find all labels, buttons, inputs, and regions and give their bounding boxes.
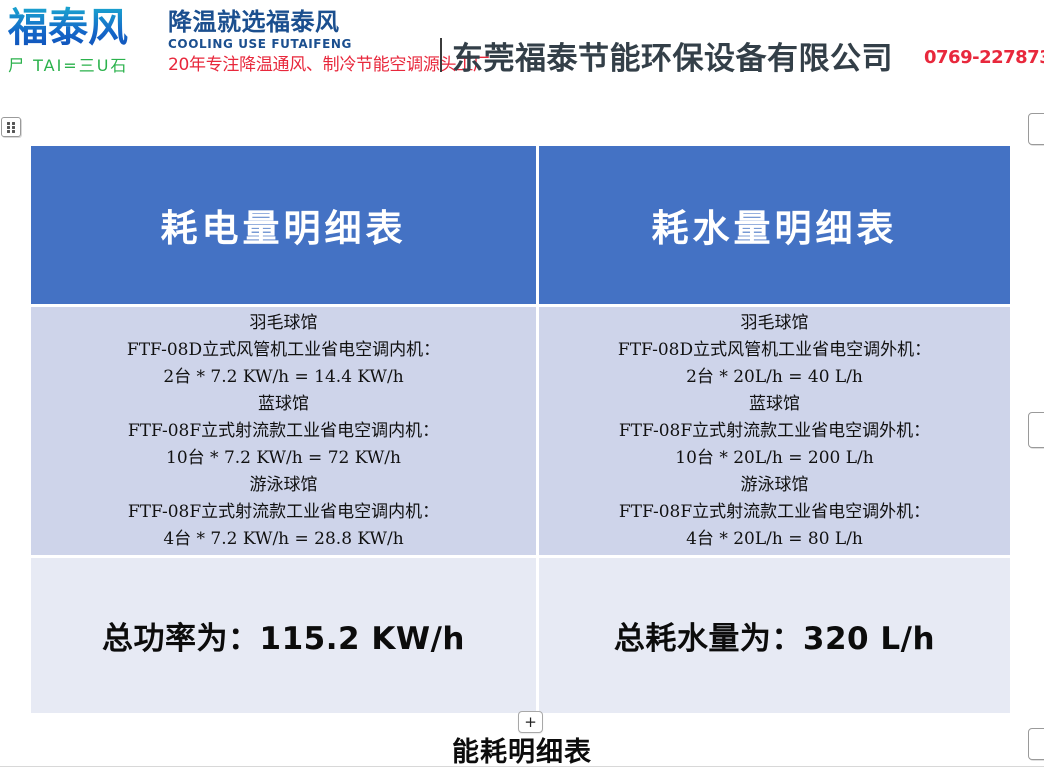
table-body-row: 羽毛球馆 FTF-08D立式风管机工业省电空调内机： 2台 * 7.2 KW/h… bbox=[31, 307, 1010, 558]
calc-label: 4台 * 20L/h = 80 L/h bbox=[539, 526, 1010, 553]
venue-label: 游泳球馆 bbox=[31, 472, 536, 499]
energy-detail-table: 耗电量明细表 耗水量明细表 羽毛球馆 FTF-08D立式风管机工业省电空调内机：… bbox=[31, 146, 1010, 713]
table-cell-water-details: 羽毛球馆 FTF-08D立式风管机工业省电空调外机： 2台 * 20L/h = … bbox=[539, 307, 1010, 558]
drag-handle-icon[interactable] bbox=[1, 117, 21, 137]
drag-dot bbox=[7, 126, 10, 129]
drag-dot bbox=[12, 126, 15, 129]
model-label: FTF-08F立式射流款工业省电空调内机： bbox=[31, 499, 536, 526]
model-label: FTF-08D立式风管机工业省电空调内机： bbox=[31, 337, 536, 364]
company-phone-number: 0769-22787393 bbox=[924, 47, 1044, 68]
model-label: FTF-08F立式射流款工业省电空调内机： bbox=[31, 418, 536, 445]
calc-label: 2台 * 7.2 KW/h = 14.4 KW/h bbox=[31, 364, 536, 391]
venue-label: 游泳球馆 bbox=[539, 472, 1010, 499]
table-total-row: 总功率为：115.2 KW/h 总耗水量为：320 L/h bbox=[31, 558, 1010, 713]
calc-label: 10台 * 7.2 KW/h = 72 KW/h bbox=[31, 445, 536, 472]
venue-label: 蓝球馆 bbox=[31, 391, 536, 418]
drag-dot bbox=[12, 130, 15, 133]
brand-logo: 福泰风 尸 TAI=三U石 bbox=[8, 6, 158, 78]
calc-label: 4台 * 7.2 KW/h = 28.8 KW/h bbox=[31, 526, 536, 553]
slogan-block: 降温就选福泰风 COOLING USE FUTAIFENG bbox=[168, 8, 448, 51]
venue-label: 羽毛球馆 bbox=[539, 310, 1010, 337]
model-label: FTF-08F立式射流款工业省电空调外机： bbox=[539, 418, 1010, 445]
drag-dot bbox=[12, 122, 15, 125]
slogan-chinese: 降温就选福泰风 bbox=[168, 8, 448, 36]
header-vertical-divider bbox=[440, 38, 442, 72]
calc-label: 2台 * 20L/h = 40 L/h bbox=[539, 364, 1010, 391]
drag-dot bbox=[7, 130, 10, 133]
venue-label: 蓝球馆 bbox=[539, 391, 1010, 418]
company-name: 东莞福泰节能环保设备有限公司 bbox=[452, 33, 893, 78]
total-water: 总耗水量为：320 L/h bbox=[539, 558, 1010, 713]
brand-logo-latin-text: 尸 TAI=三U石 bbox=[8, 52, 158, 76]
table-header-row: 耗电量明细表 耗水量明细表 bbox=[31, 146, 1010, 307]
figure-caption: 能耗明细表 bbox=[0, 730, 1044, 769]
total-electricity: 总功率为：115.2 KW/h bbox=[31, 558, 539, 713]
venue-label: 羽毛球馆 bbox=[31, 310, 536, 337]
edge-control-middle[interactable] bbox=[1028, 412, 1044, 448]
drag-dot bbox=[7, 122, 10, 125]
edge-control-top[interactable] bbox=[1028, 113, 1044, 145]
model-label: FTF-08D立式风管机工业省电空调外机： bbox=[539, 337, 1010, 364]
calc-label: 10台 * 20L/h = 200 L/h bbox=[539, 445, 1010, 472]
table-header-water: 耗水量明细表 bbox=[539, 146, 1010, 307]
slogan-english: COOLING USE FUTAIFENG bbox=[168, 37, 448, 51]
header-banner: 福泰风 尸 TAI=三U石 降温就选福泰风 COOLING USE FUTAIF… bbox=[0, 0, 1044, 92]
brand-logo-chinese-text: 福泰风 bbox=[8, 6, 158, 50]
table-cell-electricity-details: 羽毛球馆 FTF-08D立式风管机工业省电空调内机： 2台 * 7.2 KW/h… bbox=[31, 307, 539, 558]
bottom-divider bbox=[0, 766, 1044, 767]
table-header-electricity: 耗电量明细表 bbox=[31, 146, 539, 307]
model-label: FTF-08F立式射流款工业省电空调外机： bbox=[539, 499, 1010, 526]
